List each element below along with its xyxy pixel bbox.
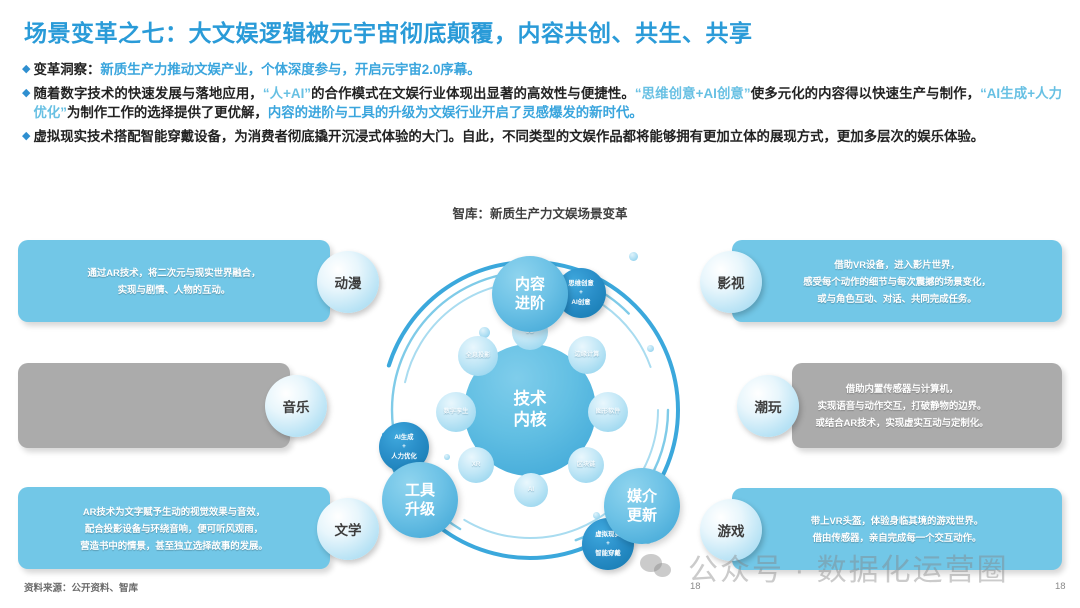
- bullet-insight-text: 新质生产力推动文娱产业，个体深度参与，开启元宇宙2.0序幕。: [100, 62, 480, 77]
- bullet-insight-label: 变革洞察：: [33, 62, 100, 77]
- wechat-icon: [640, 554, 680, 580]
- satellite-creative-ai-line-1: 思维创意: [568, 280, 594, 287]
- bullet-highlight-2: “思维创意+AI创意”: [635, 86, 751, 101]
- tech-node-holographic[interactable]: 全息投影: [458, 336, 498, 376]
- decor-dot: [593, 512, 600, 519]
- tech-node-holographic-label: 全息投影: [466, 352, 491, 360]
- card-trendy-toys-line-1: 借助内置传感器与计算机，: [846, 380, 959, 397]
- tech-node-blockchain[interactable]: 区块链: [568, 447, 604, 483]
- pillar-content-upgrade-line-2: 进阶: [515, 295, 545, 312]
- core-label-line-2: 内核: [514, 411, 547, 429]
- card-music[interactable]: [18, 363, 290, 448]
- pillar-content-upgrade-line-1: 内容: [515, 276, 545, 293]
- tech-node-xr-label: XR: [472, 461, 481, 469]
- card-film-tv-line-1: 借助VR设备，进入影片世界，: [834, 256, 960, 273]
- tech-node-ai[interactable]: AI: [514, 473, 548, 507]
- card-games-line-2: 借由传感器，亲自完成每一个交互动作。: [813, 529, 982, 546]
- card-literature[interactable]: AR技术为文字赋予生动的视觉效果与音效， 配合投影设备与环绕音响，便可听风观雨，…: [18, 487, 330, 569]
- card-trendy-toys[interactable]: 借助内置传感器与计算机， 实现语音与动作交互，打破静物的边界。 或结合AR技术，…: [792, 363, 1062, 448]
- card-trendy-toys-line-3: 或结合AR技术，实现虚实互动与定制化。: [816, 414, 989, 431]
- tech-node-graphics-software-label: 图形软件: [596, 408, 621, 416]
- bullet-seg-4: 为制作工作的选择提供了更优解，: [67, 105, 268, 120]
- bullet-seg-1: 随着数字技术的快速发展与落地应用，: [33, 86, 262, 101]
- watermark-text: 公众号 · 数据化运营圈: [688, 545, 1009, 589]
- card-games-label: 游戏: [718, 520, 745, 540]
- satellite-ai-human-line-1: AI生成: [394, 434, 413, 441]
- pillar-tool-upgrade[interactable]: 工具 升级: [382, 462, 458, 538]
- source-note: 资料来源：公开资料、智库: [24, 580, 138, 594]
- pillar-media-renewal-line-1: 媒介: [627, 488, 657, 505]
- card-film-tv-line-2: 感受每个动作的细节与每次震撼的场景变化，: [803, 273, 991, 290]
- tech-node-edge-computing-label: 边缘计算: [575, 351, 600, 359]
- card-trendy-toys-label: 潮玩: [755, 396, 782, 416]
- decor-dot: [629, 252, 638, 261]
- bullet-vr-wearable: ◆ 虚拟现实技术搭配智能穿戴设备，为消费者彻底撬开沉浸式体验的大门。自此，不同类…: [22, 127, 1062, 147]
- pillar-tool-upgrade-line-1: 工具: [405, 482, 435, 499]
- pillar-tool-upgrade-line-2: 升级: [405, 501, 435, 518]
- tech-node-digital-twin[interactable]: 数字孪生: [436, 392, 476, 432]
- satellite-vr-wearable-op: +: [606, 540, 610, 547]
- card-film-tv-label: 影视: [718, 272, 745, 292]
- bullet-vr-wearable-text: 虚拟现实技术搭配智能穿戴设备，为消费者彻底撬开沉浸式体验的大门。自此，不同类型的…: [33, 127, 984, 147]
- satellite-creative-ai-line-2: AI创意: [571, 299, 590, 306]
- card-anime-label: 动漫: [335, 272, 362, 292]
- decor-dot: [444, 454, 450, 460]
- bullet-insight: ◆ 变革洞察：新质生产力推动文娱产业，个体深度参与，开启元宇宙2.0序幕。: [22, 60, 1062, 80]
- bubble-label-film-tv[interactable]: 影视: [700, 251, 762, 313]
- bullet-digital-tech: ◆ 随着数字技术的快速发展与落地应用，“人+AI”的合作模式在文娱行业体现出显著…: [22, 84, 1062, 123]
- card-trendy-toys-line-2: 实现语音与动作交互，打破静物的边界。: [818, 397, 987, 414]
- decor-dot: [647, 345, 654, 352]
- page-title: 场景变革之七：大文娱逻辑被元宇宙彻底颠覆，内容共创、共生、共享: [24, 14, 1054, 48]
- tech-node-xr[interactable]: XR: [458, 447, 494, 483]
- pillar-media-renewal[interactable]: 媒介 更新: [604, 468, 680, 544]
- card-literature-label: 文学: [335, 519, 362, 539]
- bullet-highlight-4: 内容的进阶与工具的升级为文娱行业开启了灵感爆发的新时代。: [268, 105, 643, 120]
- satellite-ai-human-op: +: [402, 443, 406, 450]
- tech-node-blockchain-label: 区块链: [577, 461, 596, 469]
- center-diagram: 技术 内核 5G 边缘计算 图形软件 区块链 AI XR 数字孪生 全息投影: [360, 240, 700, 580]
- bullet-seg-3: 使多元化的内容得以快速生产与制作，: [751, 86, 980, 101]
- tech-node-edge-computing[interactable]: 边缘计算: [568, 336, 606, 374]
- core-label-line-1: 技术: [514, 390, 547, 408]
- slide-root: 场景变革之七：大文娱逻辑被元宇宙彻底颠覆，内容共创、共生、共享 ◆ 变革洞察：新…: [0, 0, 1080, 608]
- pillar-media-renewal-line-2: 更新: [627, 507, 657, 524]
- bullet-seg-2: 的合作模式在文娱行业体现出显著的高效性与便捷性。: [311, 86, 635, 101]
- page-number-center: 18: [690, 581, 701, 592]
- card-film-tv-line-3: 或与角色互动、对话、共同完成任务。: [817, 290, 976, 307]
- diagram-title: 智库：新质生产力文娱场景变革: [0, 203, 1080, 222]
- card-literature-line-3: 营造书中的情景，甚至独立选择故事的发展。: [80, 537, 268, 554]
- bubble-label-trendy-toys[interactable]: 潮玩: [737, 375, 799, 437]
- card-anime[interactable]: 通过AR技术，将二次元与现实世界融合， 实现与剧情、人物的互动。: [18, 240, 330, 322]
- bullet-list: ◆ 变革洞察：新质生产力推动文娱产业，个体深度参与，开启元宇宙2.0序幕。 ◆ …: [22, 60, 1062, 150]
- diamond-bullet-icon: ◆: [22, 84, 30, 102]
- card-music-label: 音乐: [283, 396, 310, 416]
- tech-node-graphics-software[interactable]: 图形软件: [588, 392, 628, 432]
- card-film-tv[interactable]: 借助VR设备，进入影片世界， 感受每个动作的细节与每次震撼的场景变化， 或与角色…: [732, 240, 1062, 322]
- satellite-vr-wearable-line-2: 智能穿戴: [595, 550, 621, 557]
- card-literature-line-2: 配合投影设备与环绕音响，便可听风观雨，: [85, 520, 263, 537]
- page-number-right: 18: [1055, 581, 1066, 592]
- bullet-highlight-1: “人+AI”: [263, 86, 311, 101]
- tech-node-digital-twin-label: 数字孪生: [444, 408, 469, 416]
- satellite-ai-human-line-2: 人力优化: [391, 453, 417, 460]
- bubble-label-music[interactable]: 音乐: [265, 375, 327, 437]
- diamond-bullet-icon: ◆: [22, 60, 30, 78]
- pillar-content-upgrade[interactable]: 内容 进阶: [492, 256, 568, 332]
- card-anime-line-2: 实现与剧情、人物的互动。: [118, 281, 231, 298]
- tech-node-ai-label: AI: [528, 486, 534, 494]
- diamond-bullet-icon: ◆: [22, 127, 30, 145]
- card-anime-line-1: 通过AR技术，将二次元与现实世界融合，: [88, 264, 261, 281]
- card-games-line-1: 带上VR头盔，体验身临其境的游戏世界。: [811, 512, 983, 529]
- card-literature-line-1: AR技术为文字赋予生动的视觉效果与音效，: [83, 503, 265, 520]
- satellite-creative-ai-op: +: [579, 289, 583, 296]
